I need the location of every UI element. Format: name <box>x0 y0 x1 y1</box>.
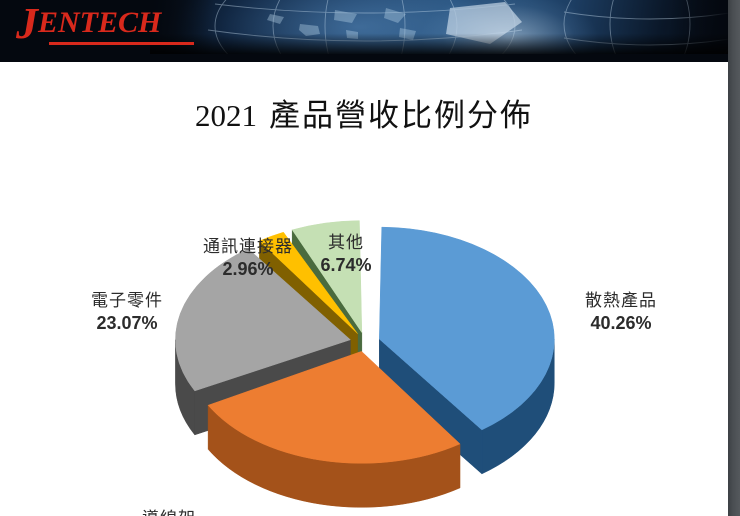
slide-page: JENTECH 2021產品營收比例分佈 散熱產品 40.26% 導線架 26.… <box>0 0 740 516</box>
pie-label-electronic-parts: 電子零件 23.07% <box>62 290 192 334</box>
pie-chart: 散熱產品 40.26% 導線架 26.97% 電子零件 23.07% 通訊連接器… <box>0 150 728 516</box>
pie-label-value: 40.26% <box>556 312 686 334</box>
pie-label-leadframe: 導線架 26.97% <box>104 508 234 516</box>
pie-label-name: 導線架 <box>104 508 234 516</box>
slide-body: 2021產品營收比例分佈 散熱產品 40.26% 導線架 26.97% 電子零件… <box>0 62 728 516</box>
right-edge-strip <box>728 0 740 516</box>
logo-initial: J <box>16 0 38 48</box>
globe-network-banner-image <box>150 0 728 54</box>
chart-title-year: 2021 <box>195 98 257 133</box>
jentech-logo[interactable]: JENTECH <box>16 4 206 48</box>
pie-label-value: 23.07% <box>62 312 192 334</box>
pie-label-name: 電子零件 <box>62 290 192 311</box>
pie-label-name: 散熱產品 <box>556 290 686 311</box>
pie-label-heat-products: 散熱產品 40.26% <box>556 290 686 334</box>
pie-label-value: 6.74% <box>296 254 396 276</box>
pie-label-name: 通訊連接器 <box>183 236 313 257</box>
logo-rest: ENTECH <box>38 6 161 39</box>
globe-grid-lines-icon <box>150 0 728 54</box>
pie-label-communication-connector: 通訊連接器 2.96% <box>183 236 313 280</box>
pie-label-value: 2.96% <box>183 258 313 280</box>
chart-title-text: 產品營收比例分佈 <box>269 98 533 133</box>
header-banner: JENTECH <box>0 0 728 62</box>
chart-title: 2021產品營收比例分佈 <box>0 90 728 135</box>
pie-label-name: 其他 <box>296 232 396 253</box>
pie-label-others: 其他 6.74% <box>296 232 396 276</box>
logo-wordmark: JENTECH <box>16 4 206 43</box>
logo-underline <box>49 42 194 45</box>
